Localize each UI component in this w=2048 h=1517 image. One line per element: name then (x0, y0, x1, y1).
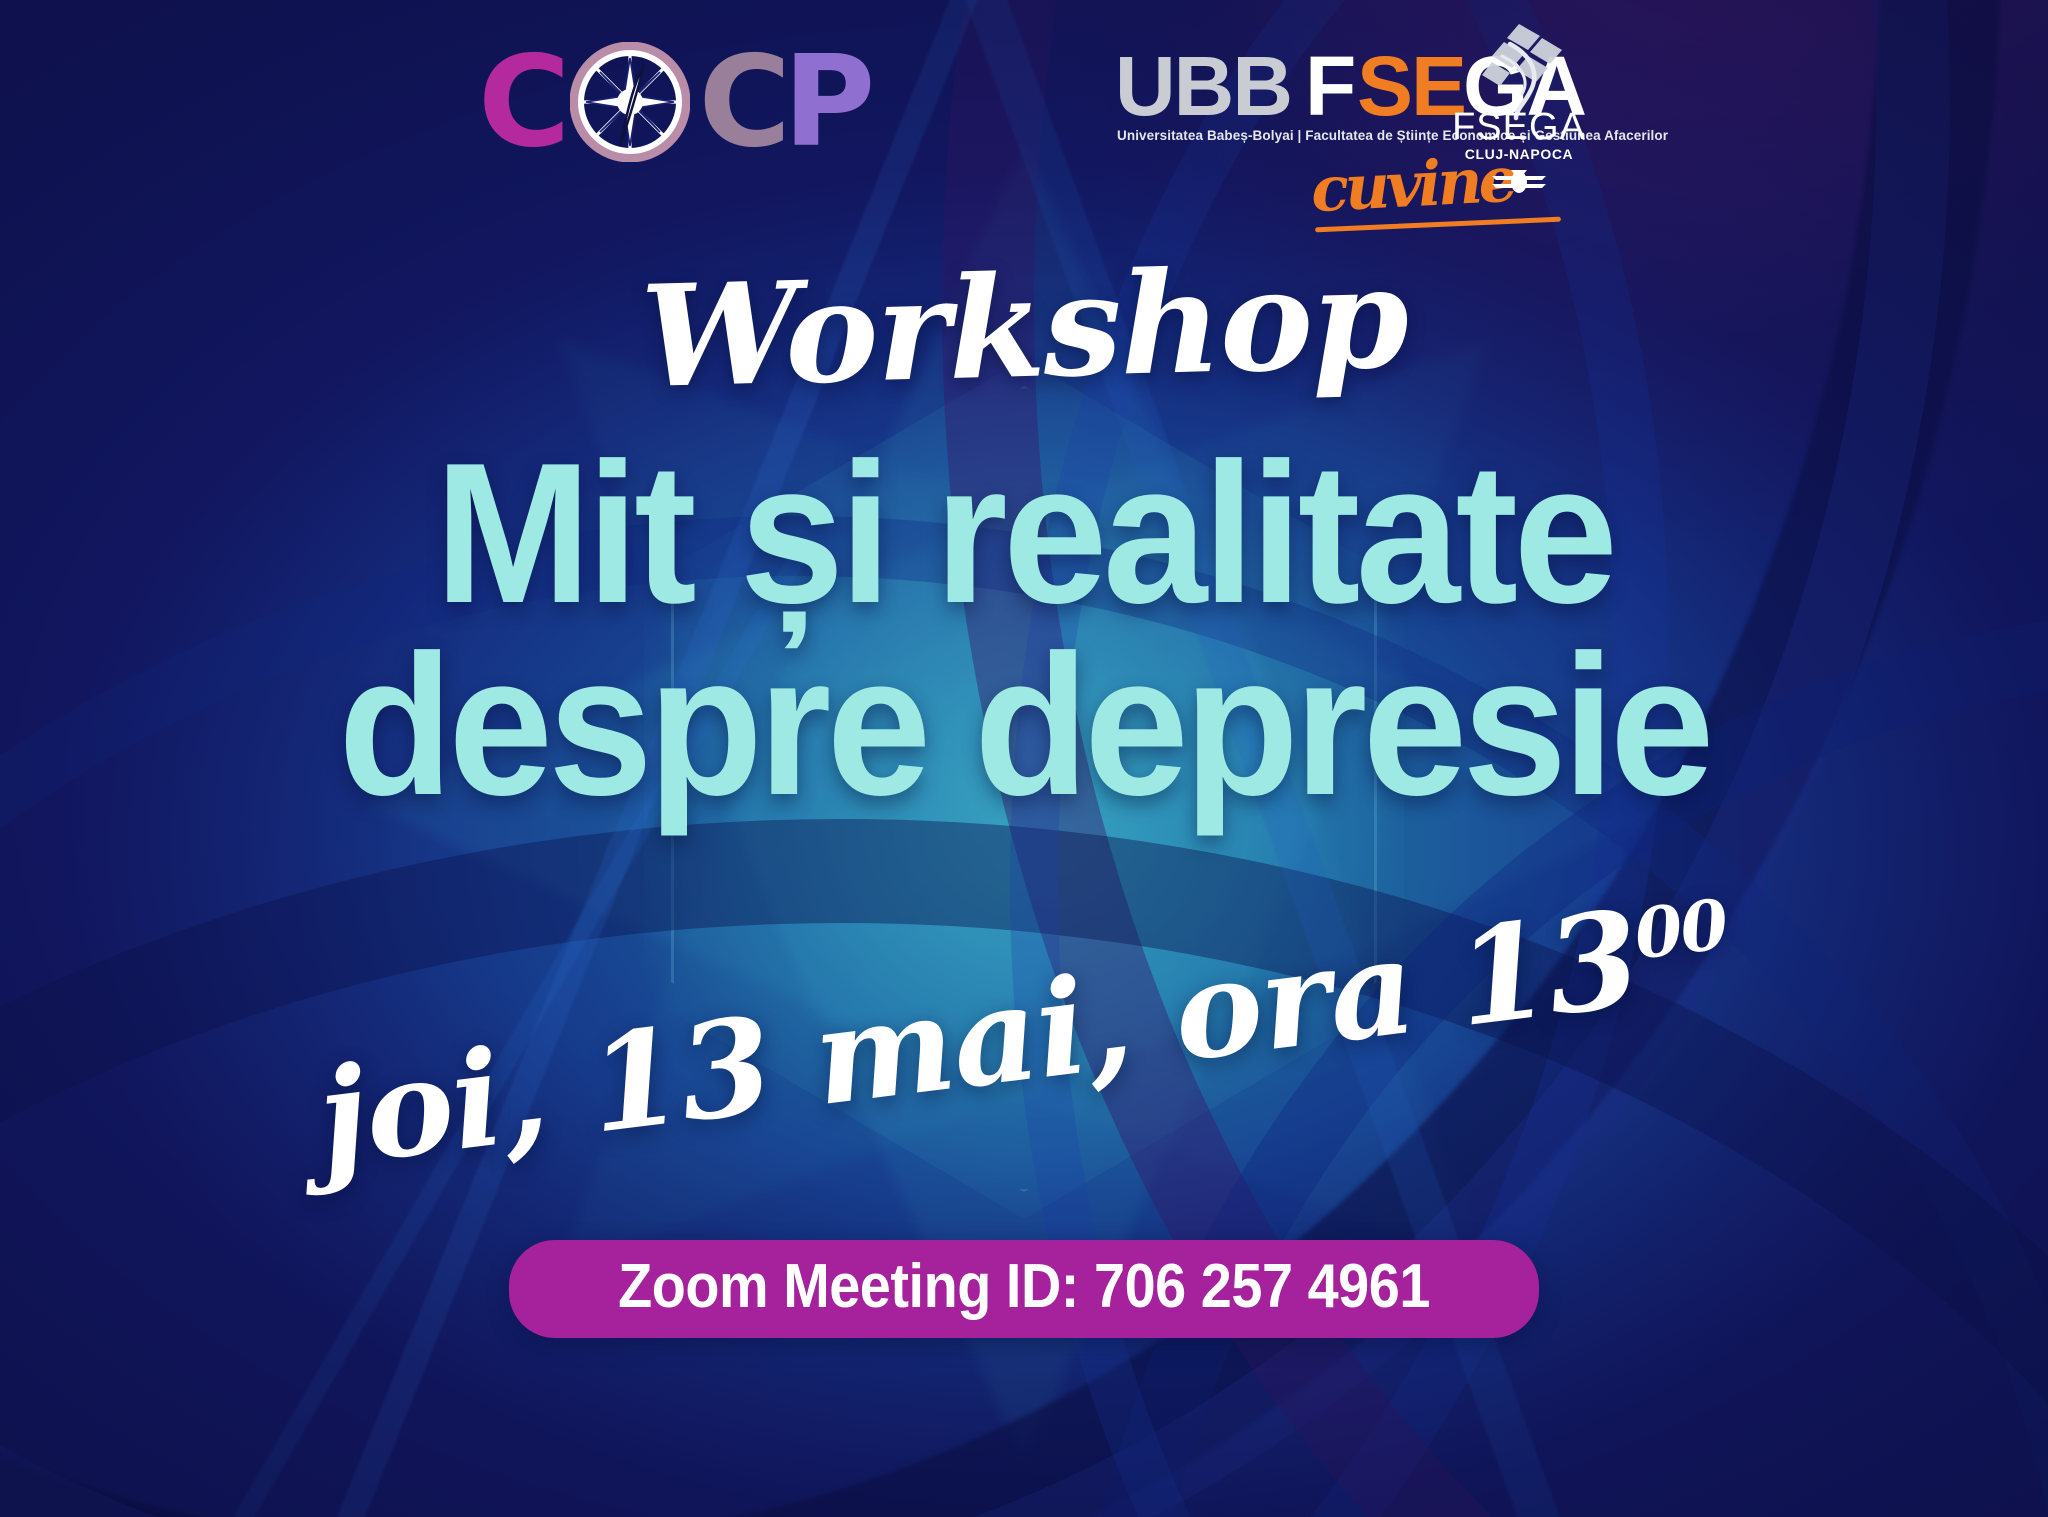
zoom-meeting-badge[interactable]: Zoom Meeting ID: 706 257 4961 (509, 1240, 1539, 1338)
page-title: Mit și realitate despre depresie (0, 438, 2048, 822)
title-line-2: despre depresie (61, 630, 1986, 822)
poster-content: Workshop Mit și realitate despre depresi… (0, 0, 2048, 1517)
poster-canvas: C (0, 0, 2048, 1517)
kicker-workshop: Workshop (0, 231, 2048, 425)
zoom-meeting-id-label: Zoom Meeting ID: 706 257 4961 (618, 1254, 1430, 1320)
event-datetime-text: joi, 13 mai, ora 13 (310, 881, 1648, 1197)
event-time-superscript: 00 (1630, 885, 1731, 976)
event-datetime: joi, 13 mai, ora 1300 (0, 844, 2048, 1225)
title-line-1: Mit și realitate (61, 438, 1986, 630)
